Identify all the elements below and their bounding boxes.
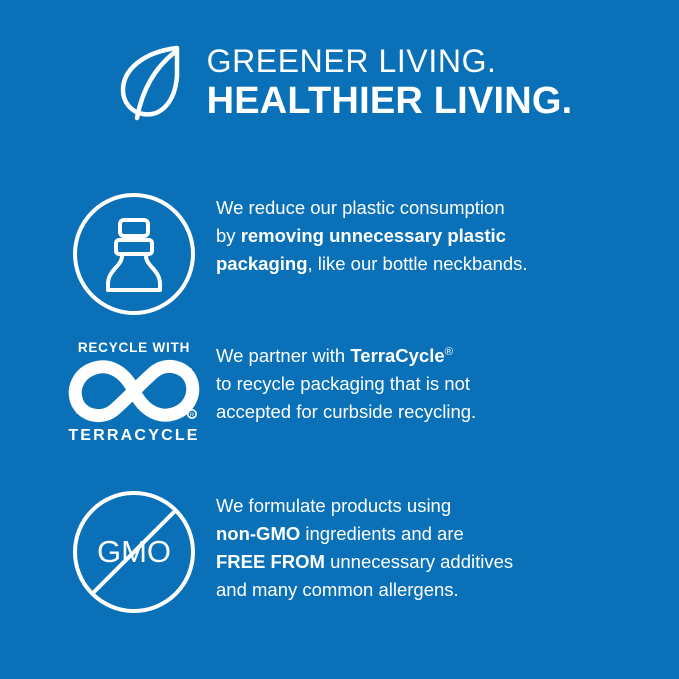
headline-line-1: GREENER LIVING. bbox=[207, 45, 573, 79]
feature-copy-terracycle: We partner with TerraCycle® to recycle p… bbox=[216, 340, 476, 426]
feature-row-gmo: GMO We formulate products using non-GMO … bbox=[52, 490, 652, 614]
infinity-loop-icon: R bbox=[62, 358, 206, 424]
copy-line: FREE FROM unnecessary additives bbox=[216, 548, 513, 576]
copy-line: We reduce our plastic consumption bbox=[216, 194, 528, 222]
copy-line: We formulate products using bbox=[216, 492, 513, 520]
poster-root: GREENER LIVING. HEALTHIER LIVING. We red… bbox=[0, 0, 679, 679]
gmo-icon-label: GMO bbox=[97, 534, 171, 569]
copy-line: non-GMO ingredients and are bbox=[216, 520, 513, 548]
icon-cell-gmo: GMO bbox=[52, 490, 216, 614]
non-gmo-icon: GMO bbox=[72, 490, 196, 614]
copy-line: by removing unnecessary plastic bbox=[216, 222, 528, 250]
copy-line: to recycle packaging that is not bbox=[216, 370, 476, 398]
copy-line: accepted for curbside recycling. bbox=[216, 398, 476, 426]
icon-cell-terracycle: RECYCLE WITH R TERRACYCLE bbox=[52, 340, 216, 445]
bottle-neckband-icon bbox=[72, 192, 196, 316]
feature-row-plastic: We reduce our plastic consumption by rem… bbox=[52, 192, 652, 316]
feature-row-terracycle: RECYCLE WITH R TERRACYCLE We partner wi bbox=[52, 340, 652, 445]
feature-copy-plastic: We reduce our plastic consumption by rem… bbox=[216, 192, 528, 278]
terracycle-logo-bottom-text: TERRACYCLE bbox=[68, 427, 199, 445]
headline-line-2: HEALTHIER LIVING. bbox=[207, 81, 573, 121]
leaf-icon bbox=[107, 40, 193, 126]
header: GREENER LIVING. HEALTHIER LIVING. bbox=[0, 40, 679, 126]
copy-line: packaging, like our bottle neckbands. bbox=[216, 250, 528, 278]
copy-line: and many common allergens. bbox=[216, 576, 513, 604]
header-text: GREENER LIVING. HEALTHIER LIVING. bbox=[207, 45, 573, 121]
feature-copy-gmo: We formulate products using non-GMO ingr… bbox=[216, 490, 513, 604]
copy-line: We partner with TerraCycle® bbox=[216, 342, 476, 370]
terracycle-logo-icon: RECYCLE WITH R TERRACYCLE bbox=[59, 340, 209, 445]
registered-trademark-symbol: ® bbox=[445, 346, 453, 358]
terracycle-logo-top-text: RECYCLE WITH bbox=[78, 340, 190, 355]
icon-cell-plastic bbox=[52, 192, 216, 316]
svg-text:R: R bbox=[190, 413, 195, 419]
